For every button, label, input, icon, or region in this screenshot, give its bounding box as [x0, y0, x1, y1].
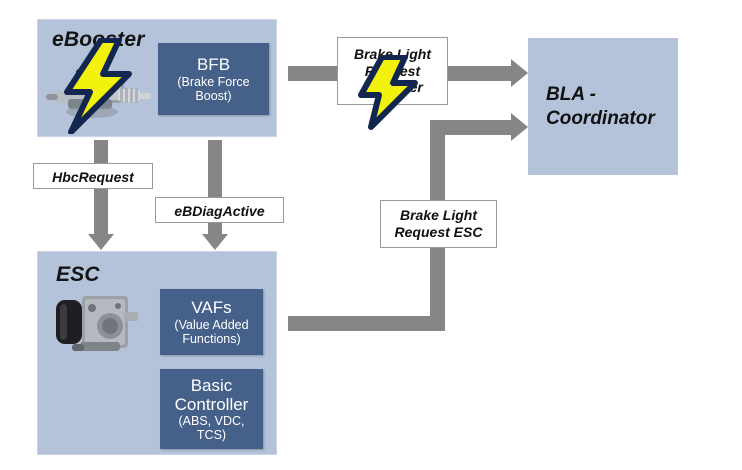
vafs-block-sub-2: Functions)	[182, 332, 240, 346]
diagram-canvas: eBooster	[0, 0, 742, 470]
basic-controller-sub-1: (ABS, VDC,	[179, 414, 245, 428]
arrow-esc-to-coordinator-segment-horizontal-lower	[288, 316, 445, 331]
vafs-block-sub-1: (Value Added	[174, 318, 248, 332]
bfb-block-sub-2: Boost)	[195, 89, 231, 103]
bla-coordinator-box: BLA - Coordinator	[528, 38, 678, 175]
bfb-block-title: BFB	[197, 55, 230, 74]
signal-label-brake-light-request-esc: Brake Light Request ESC	[380, 200, 497, 248]
basic-controller-title-1: Basic	[191, 376, 233, 395]
arrow-esc-to-coordinator-segment-horizontal-upper	[430, 120, 511, 135]
arrow-ebooster-to-coordinator-head	[511, 59, 528, 87]
basic-controller-block: Basic Controller (ABS, VDC, TCS)	[160, 369, 263, 449]
arrow-esc-to-coordinator-head	[511, 113, 528, 141]
vafs-block: VAFs (Value Added Functions)	[160, 289, 263, 355]
arrow-ebdiagactive-head	[202, 234, 228, 250]
ebooster-title: eBooster	[52, 28, 145, 52]
bfb-block: BFB (Brake Force Boost)	[158, 43, 269, 115]
esc-hydraulic-unit-image	[52, 292, 148, 358]
esc-title: ESC	[56, 263, 100, 287]
signal-label-ebdiagactive: eBDiagActive	[155, 197, 284, 223]
vafs-block-title: VAFs	[191, 298, 231, 317]
signal-label-hbc-request: HbcRequest	[33, 163, 153, 189]
ebooster-actuator-image	[46, 55, 152, 127]
signal-label-brake-light-request-ebooster: Brake Light Request eBooster	[337, 37, 448, 105]
bla-coordinator-label: BLA - Coordinator	[546, 83, 655, 131]
arrow-hbcrequest-head	[88, 234, 114, 250]
bfb-block-sub-1: (Brake Force	[177, 75, 249, 89]
basic-controller-title-2: Controller	[175, 395, 249, 414]
basic-controller-sub-2: TCS)	[197, 428, 226, 442]
